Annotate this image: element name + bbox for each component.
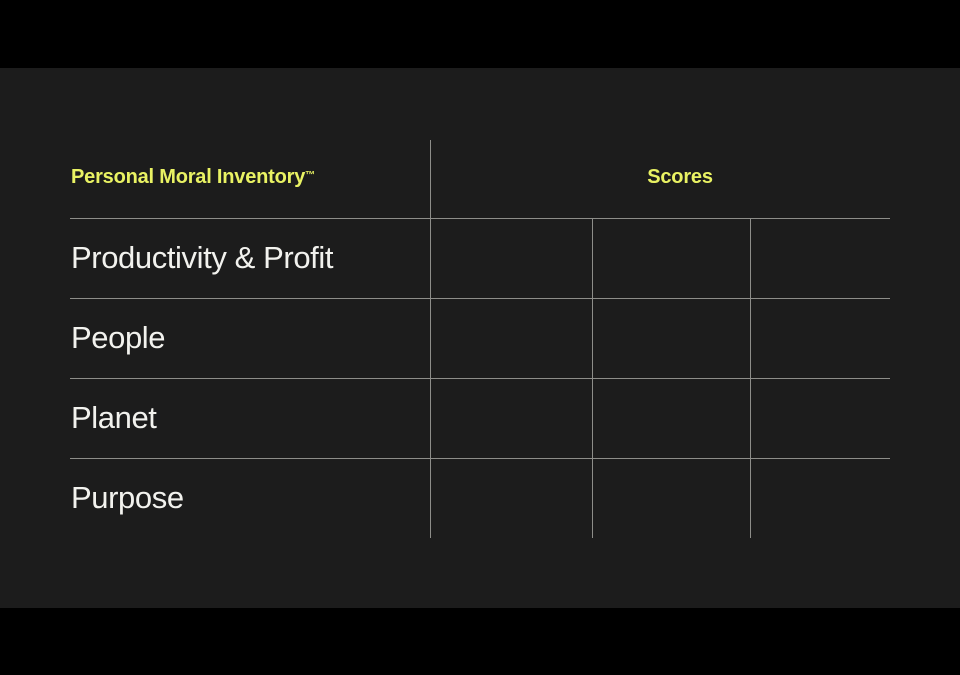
- slide-canvas: Personal Moral Inventory™ Scores Product…: [0, 68, 960, 608]
- score-cell-purpose-2[interactable]: [592, 458, 750, 538]
- trademark-symbol: ™: [305, 170, 315, 181]
- row-label-planet: Planet: [71, 378, 157, 458]
- score-cell-purpose-1[interactable]: [430, 458, 592, 538]
- slide-stage: Personal Moral Inventory™ Scores Product…: [0, 0, 960, 675]
- table-column-divider-2: [592, 218, 593, 538]
- row-label-purpose: Purpose: [71, 458, 184, 538]
- score-cell-planet-2[interactable]: [592, 378, 750, 458]
- table-row: Planet: [70, 378, 890, 458]
- score-cell-people-1[interactable]: [430, 298, 592, 378]
- score-cell-planet-3[interactable]: [750, 378, 890, 458]
- score-cell-purpose-3[interactable]: [750, 458, 890, 538]
- page-title-text: Personal Moral Inventory: [71, 166, 305, 188]
- table-rule-row-2: [70, 378, 890, 379]
- letterbox-bottom-bar: [0, 608, 960, 675]
- score-cell-productivity-1[interactable]: [430, 218, 592, 298]
- table-row: People: [70, 298, 890, 378]
- personal-moral-inventory-table: Personal Moral Inventory™ Scores Product…: [70, 68, 890, 608]
- score-cell-people-2[interactable]: [592, 298, 750, 378]
- table-row: Purpose: [70, 458, 890, 538]
- table-header-row: Personal Moral Inventory™ Scores: [70, 140, 890, 218]
- page-title: Personal Moral Inventory™: [71, 166, 315, 189]
- table-column-divider-3: [750, 218, 751, 538]
- row-label-productivity-profit: Productivity & Profit: [71, 218, 333, 298]
- table-column-divider-1: [430, 140, 431, 538]
- score-cell-planet-1[interactable]: [430, 378, 592, 458]
- table-rule-row-1: [70, 298, 890, 299]
- letterbox-top-bar: [0, 0, 960, 68]
- row-label-people: People: [71, 298, 165, 378]
- table-rule-header-bottom: [70, 218, 890, 219]
- scores-column-header: Scores: [520, 166, 840, 189]
- score-cell-productivity-3[interactable]: [750, 218, 890, 298]
- table-row: Productivity & Profit: [70, 218, 890, 298]
- score-cell-productivity-2[interactable]: [592, 218, 750, 298]
- table-rule-row-3: [70, 458, 890, 459]
- score-cell-people-3[interactable]: [750, 298, 890, 378]
